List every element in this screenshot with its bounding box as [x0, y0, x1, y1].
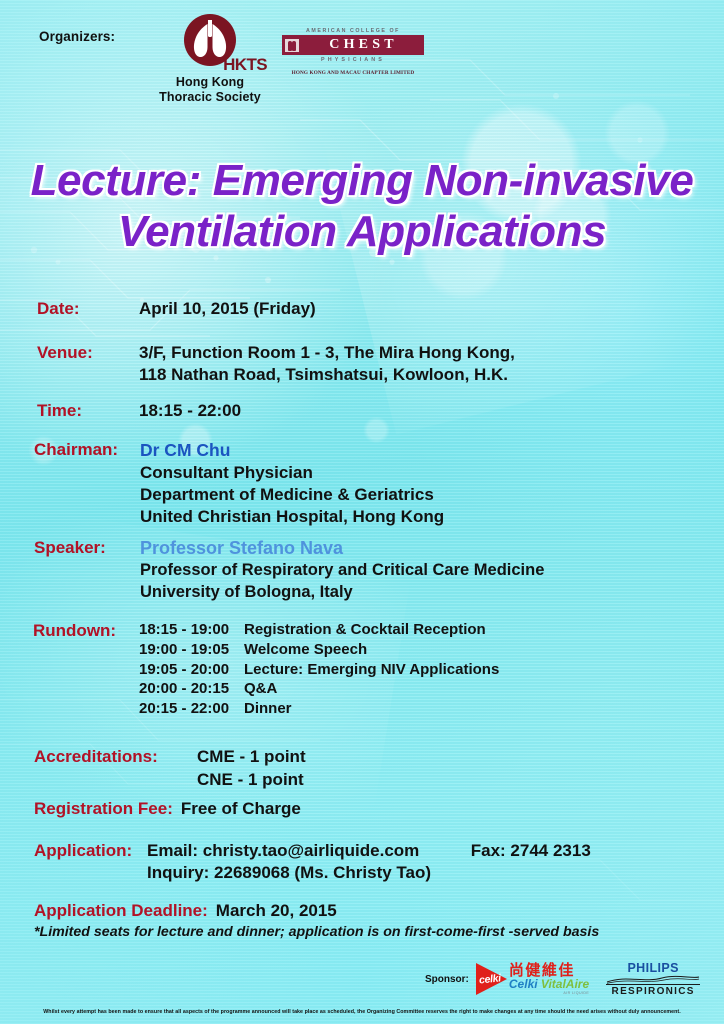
celki-english-name: Celki VitalAire [509, 978, 589, 991]
celki-vitalaire-logo: celki 尚健維佳 Celki VitalAire AIR LIQUIDE [476, 963, 589, 995]
chest-physicians-text: PHYSICIANS [282, 57, 424, 63]
deadline-line: Application Deadline: March 20, 2015 [34, 900, 599, 922]
detail-row-accreditations: Accreditations: CME - 1 point CNE - 1 po… [34, 746, 306, 792]
application-email: Email: christy.tao@airliquide.com [147, 841, 419, 860]
date-value: April 10, 2015 (Friday) [139, 298, 316, 320]
celki-english-part-1: Celki [509, 977, 541, 991]
hkts-acronym: HKTS [223, 55, 267, 75]
celki-text-block: 尚健維佳 Celki VitalAire AIR LIQUIDE [509, 963, 589, 995]
chest-top-text: AMERICAN COLLEGE OF [282, 28, 424, 34]
deadline-value: March 20, 2015 [216, 900, 337, 922]
rundown-time: 19:00 - 19:05 [139, 640, 244, 660]
deadline-note: *Limited seats for lecture and dinner; a… [34, 924, 599, 940]
venue-line-1: 3/F, Function Room 1 - 3, The Mira Hong … [139, 342, 515, 364]
application-label: Application: [34, 840, 147, 884]
sponsor-label: Sponsor: [425, 974, 469, 985]
celki-english-part-2: VitalAire [541, 977, 589, 991]
rundown-row: 18:15 - 19:00Registration & Cocktail Rec… [139, 620, 499, 640]
speaker-name: Professor Stefano Nava [140, 537, 544, 560]
organizers-label: Organizers: [39, 29, 115, 44]
chest-wordmark: CHEST [300, 37, 424, 53]
title-line-2: Ventilation Applications [0, 206, 724, 257]
rundown-row: 20:15 - 22:00Dinner [139, 699, 499, 719]
philips-wave-icon [606, 975, 700, 984]
poster-canvas: Organizers: HKTS Hong Kong Thoracic Soci… [0, 0, 724, 1024]
chest-chapter-text: HONG KONG AND MACAU CHAPTER LIMITED [282, 70, 424, 76]
rundown-time: 20:15 - 22:00 [139, 699, 244, 719]
speaker-label: Speaker: [34, 537, 140, 603]
deadline-label: Application Deadline: [34, 900, 208, 922]
registration-fee-value: Free of Charge [181, 798, 301, 820]
detail-row-deadline: Application Deadline: March 20, 2015 *Li… [34, 900, 599, 940]
detail-row-time: Time: 18:15 - 22:00 [37, 400, 241, 422]
philips-sub-brand: RESPIRONICS [606, 984, 700, 997]
lungs-icon: HKTS [179, 12, 241, 74]
rundown-time: 20:00 - 20:15 [139, 679, 244, 699]
chairman-line-2: Department of Medicine & Geriatrics [140, 484, 444, 506]
page-title: Lecture: Emerging Non-invasive Ventilati… [0, 155, 724, 257]
rundown-item: Registration & Cocktail Reception [244, 620, 486, 640]
time-value: 18:15 - 22:00 [139, 400, 241, 422]
detail-row-venue: Venue: 3/F, Function Room 1 - 3, The Mir… [37, 342, 515, 386]
rundown-item: Welcome Speech [244, 640, 367, 660]
chest-bar: CHEST [282, 35, 424, 55]
rundown-item: Dinner [244, 699, 292, 719]
title-line-1: Lecture: Emerging Non-invasive [0, 155, 724, 206]
speaker-line-2: University of Bologna, Italy [140, 582, 544, 603]
philips-respironics-logo: PHILIPS RESPIRONICS [606, 962, 700, 997]
celki-mark-word: celki [478, 972, 509, 987]
date-label: Date: [37, 298, 139, 320]
rundown-item: Q&A [244, 679, 277, 699]
chairman-value: Dr CM Chu Consultant Physician Departmen… [140, 439, 444, 528]
poster-header: Organizers: HKTS Hong Kong Thoracic Soci… [0, 0, 724, 118]
hkts-logo: HKTS Hong Kong Thoracic Society [150, 12, 270, 105]
accreditation-item-2: CNE - 1 point [197, 769, 306, 792]
disclaimer-text: Whilst every attempt has been made to en… [0, 1009, 724, 1015]
celki-tagline: AIR LIQUIDE [509, 991, 589, 995]
venue-line-2: 118 Nathan Road, Tsimshatsui, Kowloon, H… [139, 364, 515, 386]
hkts-name-line-2: Thoracic Society [150, 90, 270, 105]
accreditations-value: CME - 1 point CNE - 1 point [197, 746, 306, 792]
celki-triangle-icon: celki [476, 963, 507, 995]
detail-row-speaker: Speaker: Professor Stefano Nava Professo… [34, 537, 544, 603]
philips-brand: PHILIPS [606, 962, 700, 975]
chairman-name: Dr CM Chu [140, 439, 444, 462]
rundown-row: 20:00 - 20:15Q&A [139, 679, 499, 699]
venue-value: 3/F, Function Room 1 - 3, The Mira Hong … [139, 342, 515, 386]
application-fax: Fax: 2744 2313 [471, 841, 591, 860]
rundown-row: 19:05 - 20:00 Lecture: Emerging NIV Appl… [139, 660, 499, 680]
chairman-line-3: United Christian Hospital, Hong Kong [140, 506, 444, 528]
detail-row-chairman: Chairman: Dr CM Chu Consultant Physician… [34, 439, 444, 528]
celki-chinese-name: 尚健維佳 [509, 963, 589, 978]
rundown-time: 19:05 - 20:00 [139, 660, 244, 680]
detail-row-date: Date: April 10, 2015 (Friday) [37, 298, 316, 320]
chairman-label: Chairman: [34, 439, 140, 528]
chest-logo: AMERICAN COLLEGE OF CHEST PHYSICIANS HON… [282, 28, 424, 76]
registration-fee-label: Registration Fee: [34, 798, 173, 820]
speaker-value: Professor Stefano Nava Professor of Resp… [140, 537, 544, 603]
chairman-line-1: Consultant Physician [140, 462, 444, 484]
detail-row-fee: Registration Fee: Free of Charge [34, 798, 301, 820]
sponsor-strip: Sponsor: celki 尚健維佳 Celki VitalAire AIR … [425, 962, 700, 997]
application-line-1: Email: christy.tao@airliquide.com Fax: 2… [147, 840, 591, 862]
rundown-label: Rundown: [33, 620, 139, 719]
detail-row-application: Application: Email: christy.tao@airliqui… [34, 840, 591, 884]
speaker-line-1: Professor of Respiratory and Critical Ca… [140, 560, 544, 581]
rundown-table: 18:15 - 19:00Registration & Cocktail Rec… [139, 620, 499, 719]
accreditations-label: Accreditations: [34, 746, 197, 792]
accreditation-item-1: CME - 1 point [197, 746, 306, 769]
time-label: Time: [37, 400, 139, 422]
rundown-time: 18:15 - 19:00 [139, 620, 244, 640]
chest-lungs-badge-icon [284, 38, 300, 53]
application-value: Email: christy.tao@airliquide.com Fax: 2… [147, 840, 591, 884]
hkts-name-line-1: Hong Kong [150, 75, 270, 90]
rundown-item: Lecture: Emerging NIV Applications [244, 660, 499, 680]
rundown-row: 19:00 - 19:05Welcome Speech [139, 640, 499, 660]
detail-row-rundown: Rundown: 18:15 - 19:00Registration & Coc… [33, 620, 499, 719]
venue-label: Venue: [37, 342, 139, 386]
application-inquiry: Inquiry: 22689068 (Ms. Christy Tao) [147, 862, 591, 884]
